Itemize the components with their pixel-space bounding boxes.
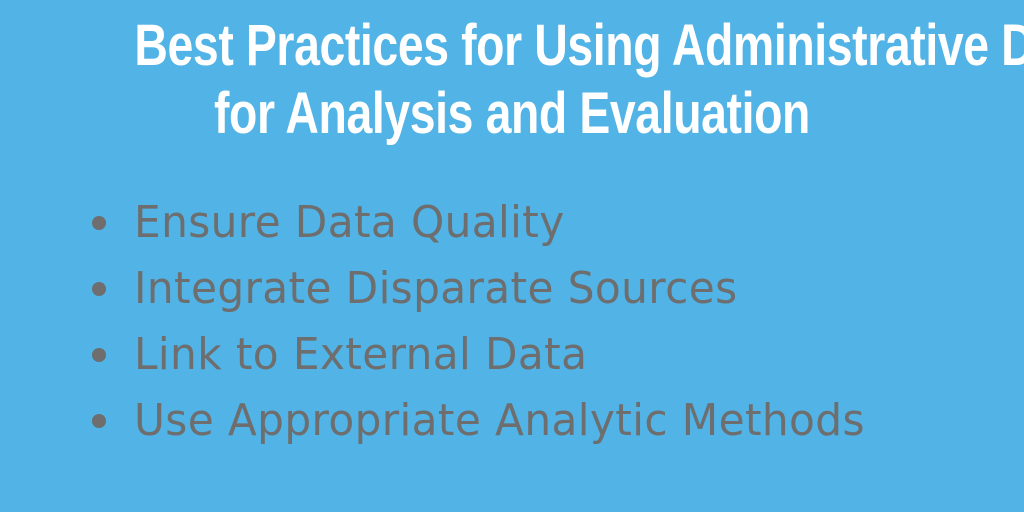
list-item-label: Ensure Data Quality [134,197,565,249]
list-item: Link to External Data [86,322,986,388]
bullet-dot-icon [92,414,106,428]
title-line-1: Best Practices for Using Administrative … [134,12,889,80]
bullet-dot-icon [92,216,106,230]
best-practices-list: Ensure Data Quality Integrate Disparate … [86,190,986,454]
bullet-dot-icon [92,282,106,296]
presentation-slide: Best Practices for Using Administrative … [0,0,1024,512]
slide-title: Best Practices for Using Administrative … [0,12,1024,148]
list-item-label: Integrate Disparate Sources [134,263,737,315]
list-item: Use Appropriate Analytic Methods [86,388,986,454]
title-line-2: for Analysis and Evaluation [134,80,889,148]
bullet-dot-icon [92,348,106,362]
list-item-label: Use Appropriate Analytic Methods [134,395,865,447]
list-item: Integrate Disparate Sources [86,256,986,322]
list-item: Ensure Data Quality [86,190,986,256]
list-item-label: Link to External Data [134,329,587,381]
